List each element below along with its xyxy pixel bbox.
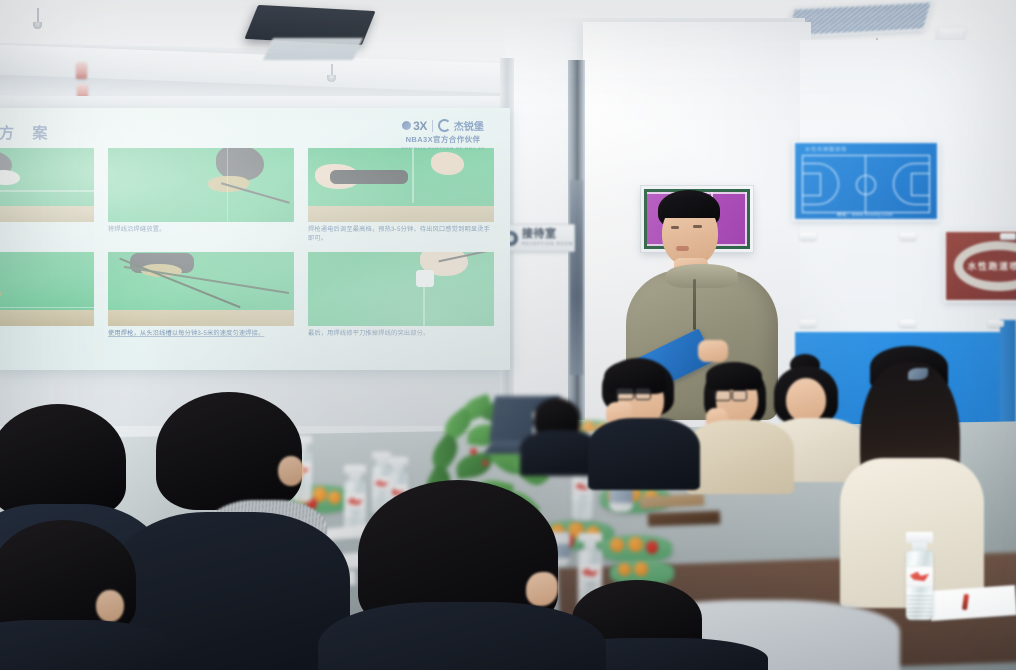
slide-cell: 使用焊枪，从头沿线槽以每分钟3-5米的速度匀速焊接。 [108, 252, 294, 339]
slide-cell: 面，从头至尾均匀用力。 [0, 148, 94, 244]
brand-logo-icon: 杰锐堡 [438, 118, 484, 133]
panel-clip-icon [800, 320, 816, 327]
track-panel-label: 水性跑道喷面 [946, 260, 1016, 273]
conference-room-photo: 接待室 RECEPTION ROOM 工 方 案 3X 杰锐堡 NBA3X官方合… [0, 0, 1016, 670]
projector-lens-glow [263, 38, 363, 60]
slide-photo-1 [0, 148, 94, 222]
attendee-torso [318, 602, 606, 670]
basketball-panel-label: 水性丙烯酸球场 [805, 146, 847, 153]
document [929, 585, 1016, 621]
slide-photo-grid: 面，从头至尾均匀用力。 将焊线沿焊缝放置。 [0, 148, 508, 339]
presenter-eye [671, 226, 679, 229]
attendee-glasses-man [588, 358, 708, 488]
attendee-front-left-3 [0, 520, 180, 670]
attendee-ear [96, 590, 124, 622]
basketball-panel-url: 网址：www.hcssty.com [837, 212, 893, 218]
notebook [648, 511, 720, 527]
panel-clip-icon [1000, 233, 1016, 240]
attendee-torso [0, 620, 180, 670]
slide-caption: 面，从头至尾均匀用力。 [0, 226, 90, 235]
presenter-collar [666, 264, 739, 288]
door-glass [570, 180, 583, 375]
slide-caption: 的固定管中，多抽出5- [0, 330, 90, 339]
slide-logo: 3X 杰锐堡 NBA3X官方合作伙伴 OFFICIAL PARTNER OF N… [384, 118, 502, 151]
slide-photo-5 [108, 252, 294, 326]
track-surface-panel: 水性跑道喷面 [944, 230, 1016, 302]
glasses-icon [732, 390, 747, 401]
slide-caption: 将焊线沿焊缝放置。 [108, 226, 290, 235]
panel-clip-icon [900, 233, 916, 240]
presenter-hairline [660, 196, 718, 218]
slide-caption: 最后，用焊线修平刀推掉焊线的突出部分。 [308, 330, 490, 339]
nba-3x-logo-icon: 3X [402, 119, 427, 133]
presenter-mouth [676, 246, 689, 251]
attendee-hair-top [706, 362, 762, 390]
fruit-plate [600, 535, 672, 563]
slide-photo-6 [308, 252, 494, 326]
panel-clip-icon [900, 320, 916, 327]
glasses-icon [616, 388, 634, 400]
slide-photo-3 [308, 148, 494, 222]
slide-caption: 焊枪通电后调至最高档，预热3-5分钟，待出风口感觉到明显烫手即可。 [308, 226, 490, 244]
slide-caption: 使用焊枪，从头沿线槽以每分钟3-5米的速度匀速焊接。 [108, 330, 290, 339]
basketball-court-panel: 水性丙烯酸球场 网址：www.hcssty.com [793, 141, 939, 221]
attendee-front-center [330, 480, 590, 670]
slide-cell: 将焊线沿焊缝放置。 [108, 148, 294, 244]
brand-name-cn: 杰锐堡 [454, 118, 484, 133]
slide-photo-2 [108, 148, 294, 222]
reception-sign-en: RECEPTION ROOM [522, 242, 573, 246]
presenter-eye [693, 225, 702, 228]
slide-cell: 焊枪通电后调至最高档，预热3-5分钟，待出风口感觉到明显烫手即可。 [308, 148, 494, 244]
presenter-zipper [693, 279, 696, 330]
sprinkler-icon [327, 64, 336, 82]
projection-screen: 工 方 案 3X 杰锐堡 NBA3X官方合作伙伴 OFFICIAL PARTNE… [0, 108, 510, 370]
panel-clip-icon [800, 233, 816, 240]
slide-cell: 的固定管中，多抽出5- [0, 252, 94, 339]
glasses-icon [635, 388, 651, 400]
hair-clip-icon [908, 368, 928, 380]
attendee-hair [0, 404, 126, 516]
attendee-ear [278, 456, 304, 486]
panel-clip-icon [988, 320, 1004, 327]
slide-title: 工 方 案 [0, 122, 54, 143]
water-bottle [906, 532, 933, 620]
attendee-far-left [524, 398, 594, 468]
slide-cell: 最后，用焊线修平刀推掉焊线的突出部分。 [308, 252, 494, 339]
attendee-hair [156, 392, 302, 510]
logo-divider [432, 120, 433, 132]
sprinkler-icon [33, 8, 42, 29]
attendee-torso [588, 418, 700, 490]
reception-sign-cn: 接待室 [522, 229, 573, 240]
slide-logo-line-cn: NBA3X官方合作伙伴 [406, 134, 481, 145]
fire-alarm-icon [76, 62, 87, 79]
slide-photo-4 [0, 252, 94, 326]
glasses-icon [714, 390, 731, 401]
attendee-ear [526, 572, 558, 606]
